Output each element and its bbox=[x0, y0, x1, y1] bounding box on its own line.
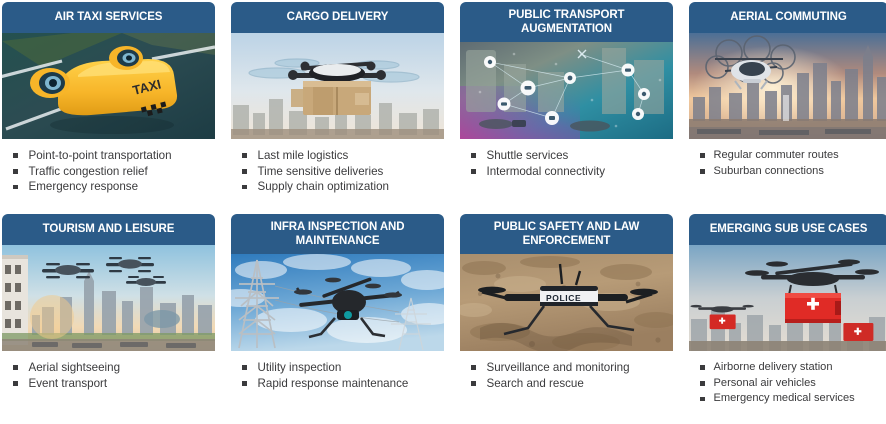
square-bullet-icon bbox=[242, 169, 247, 174]
card-body-public-transport-augmentation: Shuttle services Intermodal connectivity bbox=[460, 139, 673, 214]
list-item: Utility inspection bbox=[239, 360, 442, 375]
powerline-inspection-drone-photo bbox=[231, 254, 444, 351]
square-bullet-icon bbox=[700, 169, 705, 174]
list-item: Last mile logistics bbox=[239, 148, 442, 163]
card-body-public-safety-and-law-enforcement: Surveillance and monitoring Search and r… bbox=[460, 351, 673, 424]
police-drone-photo: POLICE bbox=[460, 254, 673, 351]
card-title: TOURISM AND LEISURE bbox=[37, 223, 181, 237]
square-bullet-icon bbox=[700, 381, 705, 386]
card-public-transport-augmentation[interactable]: PUBLIC TRANSPORT AUGMENTATION bbox=[460, 2, 673, 214]
card-title: CARGO DELIVERY bbox=[281, 11, 395, 25]
svg-text:POLICE: POLICE bbox=[546, 293, 581, 303]
card-title: AERIAL COMMUTING bbox=[724, 11, 852, 25]
list-item: Personal air vehicles bbox=[697, 376, 886, 391]
square-bullet-icon bbox=[700, 153, 705, 158]
card-header-emerging-sub-use-cases: EMERGING SUB USE CASES bbox=[689, 214, 886, 245]
card-header-cargo-delivery: CARGO DELIVERY bbox=[231, 2, 444, 33]
card-aerial-commuting[interactable]: AERIAL COMMUTING bbox=[689, 2, 886, 214]
card-body-infra-inspection-and-maintenance: Utility inspection Rapid response mainte… bbox=[231, 351, 444, 424]
medical-delivery-drone-photo bbox=[689, 245, 886, 351]
list-item: Emergency medical services bbox=[697, 391, 886, 406]
bullet-list: Surveillance and monitoring Search and r… bbox=[468, 360, 671, 391]
card-tourism-and-leisure[interactable]: TOURISM AND LEISURE bbox=[2, 214, 215, 424]
card-body-cargo-delivery: Last mile logistics Time sensitive deliv… bbox=[231, 139, 444, 214]
list-item: Aerial sightseeing bbox=[10, 360, 213, 375]
card-header-aerial-commuting: AERIAL COMMUTING bbox=[689, 2, 886, 33]
yellow-air-taxi-photo: TAXI bbox=[2, 33, 215, 139]
card-header-public-safety-and-law-enforcement: PUBLIC SAFETY AND LAW ENFORCEMENT bbox=[460, 214, 673, 254]
list-item: Shuttle services bbox=[468, 148, 671, 163]
square-bullet-icon bbox=[242, 185, 247, 190]
list-item: Intermodal connectivity bbox=[468, 164, 671, 179]
square-bullet-icon bbox=[13, 169, 18, 174]
card-title: EMERGING SUB USE CASES bbox=[704, 223, 874, 237]
bullet-list: Regular commuter routes Suburban connect… bbox=[697, 148, 886, 179]
card-title: AIR TAXI SERVICES bbox=[49, 11, 169, 25]
card-air-taxi-services[interactable]: AIR TAXI SERVICES bbox=[2, 2, 215, 214]
square-bullet-icon bbox=[13, 185, 18, 190]
list-item: Emergency response bbox=[10, 179, 213, 194]
square-bullet-icon bbox=[242, 365, 247, 370]
list-item: Rapid response maintenance bbox=[239, 376, 442, 391]
card-body-air-taxi-services: Point-to-point transportation Traffic co… bbox=[2, 139, 215, 214]
square-bullet-icon bbox=[242, 153, 247, 158]
bullet-list: Shuttle services Intermodal connectivity bbox=[468, 148, 671, 179]
square-bullet-icon bbox=[471, 381, 476, 386]
bullet-list: Last mile logistics Time sensitive deliv… bbox=[239, 148, 442, 195]
bullet-list: Utility inspection Rapid response mainte… bbox=[239, 360, 442, 391]
card-body-emerging-sub-use-cases: Airborne delivery station Personal air v… bbox=[689, 351, 886, 424]
square-bullet-icon bbox=[471, 153, 476, 158]
square-bullet-icon bbox=[471, 365, 476, 370]
card-body-tourism-and-leisure: Aerial sightseeing Event transport bbox=[2, 351, 215, 424]
list-item: Surveillance and monitoring bbox=[468, 360, 671, 375]
square-bullet-icon bbox=[13, 153, 18, 158]
list-item: Supply chain optimization bbox=[239, 179, 442, 194]
card-cargo-delivery[interactable]: CARGO DELIVERY bbox=[231, 2, 444, 214]
square-bullet-icon bbox=[13, 365, 18, 370]
cargo-drone-photo bbox=[231, 33, 444, 139]
card-header-public-transport-augmentation: PUBLIC TRANSPORT AUGMENTATION bbox=[460, 2, 673, 42]
list-item: Suburban connections bbox=[697, 164, 886, 179]
card-title: INFRA INSPECTION AND MAINTENANCE bbox=[231, 221, 444, 248]
list-item: Event transport bbox=[10, 376, 213, 391]
list-item: Traffic congestion relief bbox=[10, 164, 213, 179]
card-public-safety-and-law-enforcement[interactable]: PUBLIC SAFETY AND LAW ENFORCEMENT bbox=[460, 214, 673, 424]
square-bullet-icon bbox=[700, 365, 705, 370]
square-bullet-icon bbox=[700, 397, 705, 402]
card-header-infra-inspection-and-maintenance: INFRA INSPECTION AND MAINTENANCE bbox=[231, 214, 444, 254]
bullet-list: Airborne delivery station Personal air v… bbox=[697, 360, 886, 407]
smart-mobility-network-photo bbox=[460, 42, 673, 139]
sightseeing-aircraft-photo bbox=[2, 245, 215, 351]
square-bullet-icon bbox=[242, 381, 247, 386]
use-case-card-grid: AIR TAXI SERVICES bbox=[0, 0, 886, 424]
card-emerging-sub-use-cases[interactable]: EMERGING SUB USE CASES bbox=[689, 214, 886, 424]
bullet-list: Aerial sightseeing Event transport bbox=[10, 360, 213, 391]
card-header-air-taxi-services: AIR TAXI SERVICES bbox=[2, 2, 215, 33]
list-item: Regular commuter routes bbox=[697, 148, 886, 163]
bullet-list: Point-to-point transportation Traffic co… bbox=[10, 148, 213, 195]
card-title: PUBLIC TRANSPORT AUGMENTATION bbox=[460, 9, 673, 36]
list-item: Search and rescue bbox=[468, 376, 671, 391]
list-item: Point-to-point transportation bbox=[10, 148, 213, 163]
square-bullet-icon bbox=[13, 381, 18, 386]
square-bullet-icon bbox=[471, 169, 476, 174]
aerial-commuter-photo bbox=[689, 33, 886, 139]
card-title: PUBLIC SAFETY AND LAW ENFORCEMENT bbox=[460, 221, 673, 248]
list-item: Airborne delivery station bbox=[697, 360, 886, 375]
card-header-tourism-and-leisure: TOURISM AND LEISURE bbox=[2, 214, 215, 245]
card-infra-inspection-and-maintenance[interactable]: INFRA INSPECTION AND MAINTENANCE bbox=[231, 214, 444, 424]
list-item: Time sensitive deliveries bbox=[239, 164, 442, 179]
card-body-aerial-commuting: Regular commuter routes Suburban connect… bbox=[689, 139, 886, 214]
